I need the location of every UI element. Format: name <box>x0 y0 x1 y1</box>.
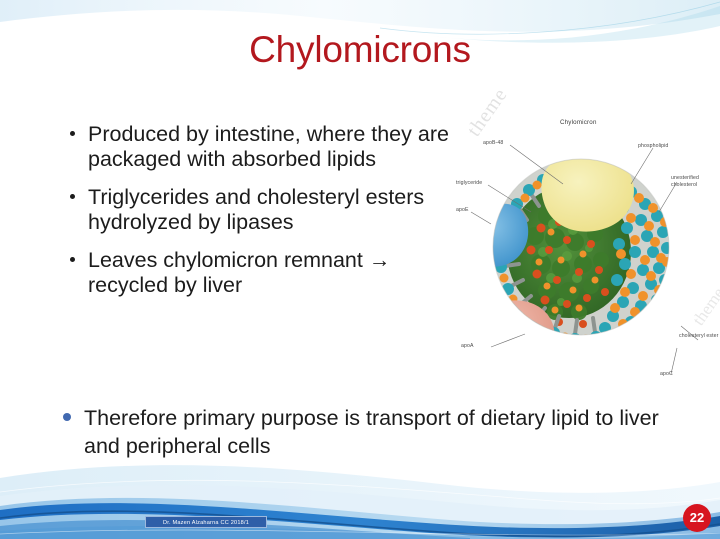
label-apoa: apoA <box>461 343 474 350</box>
bullet-item: Triglycerides and cholesteryl esters hyd… <box>66 185 454 235</box>
diagram-title: Chylomicron <box>560 119 597 126</box>
label-triglyceride: triglyceride <box>456 180 482 187</box>
chylomicron-diagram: Chylomicron theme theme apoB-48 triglyce… <box>455 112 717 392</box>
bullet-marker-icon <box>70 194 75 199</box>
conclusion-bullet-marker-icon <box>63 413 71 421</box>
page-number-badge: 22 <box>683 504 711 532</box>
label-apoc: apoC <box>660 371 673 378</box>
apoa-protein-shape <box>476 300 554 370</box>
conclusion-block: Therefore primary purpose is transport o… <box>58 404 678 460</box>
label-apoe: apoE <box>456 207 469 214</box>
bullet-text: Leaves chylomicron remnant → recycled by… <box>88 248 390 297</box>
chylomicron-svg <box>455 112 717 392</box>
bullet-text: Triglycerides and cholesteryl esters hyd… <box>88 185 424 234</box>
main-bullet-list: Produced by intestine, where they are pa… <box>66 122 454 311</box>
label-apob48: apoB-48 <box>483 140 503 147</box>
label-unesterified-cholesterol: unesterified cholesterol <box>671 175 711 188</box>
bullet-item: Leaves chylomicron remnant → recycled by… <box>66 248 454 298</box>
conclusion-text: Therefore primary purpose is transport o… <box>84 406 659 458</box>
label-phospholipid: phospholipid <box>638 143 668 150</box>
bullet-marker-icon <box>70 257 75 262</box>
conclusion-row: Therefore primary purpose is transport o… <box>58 404 678 460</box>
footer-credit: Dr. Mazen Alzaharna CC 2018/1 <box>145 516 267 528</box>
bullet-text: Produced by intestine, where they are pa… <box>88 122 449 171</box>
apob48-protein-shape <box>541 155 634 232</box>
bullet-marker-icon <box>70 131 75 136</box>
bullet-item: Produced by intestine, where they are pa… <box>66 122 454 172</box>
presentation-slide: Chylomicrons Produced by intestine, wher… <box>0 0 720 539</box>
label-cholesteryl-ester: cholesteryl ester <box>679 333 719 340</box>
slide-title: Chylomicrons <box>0 29 720 71</box>
